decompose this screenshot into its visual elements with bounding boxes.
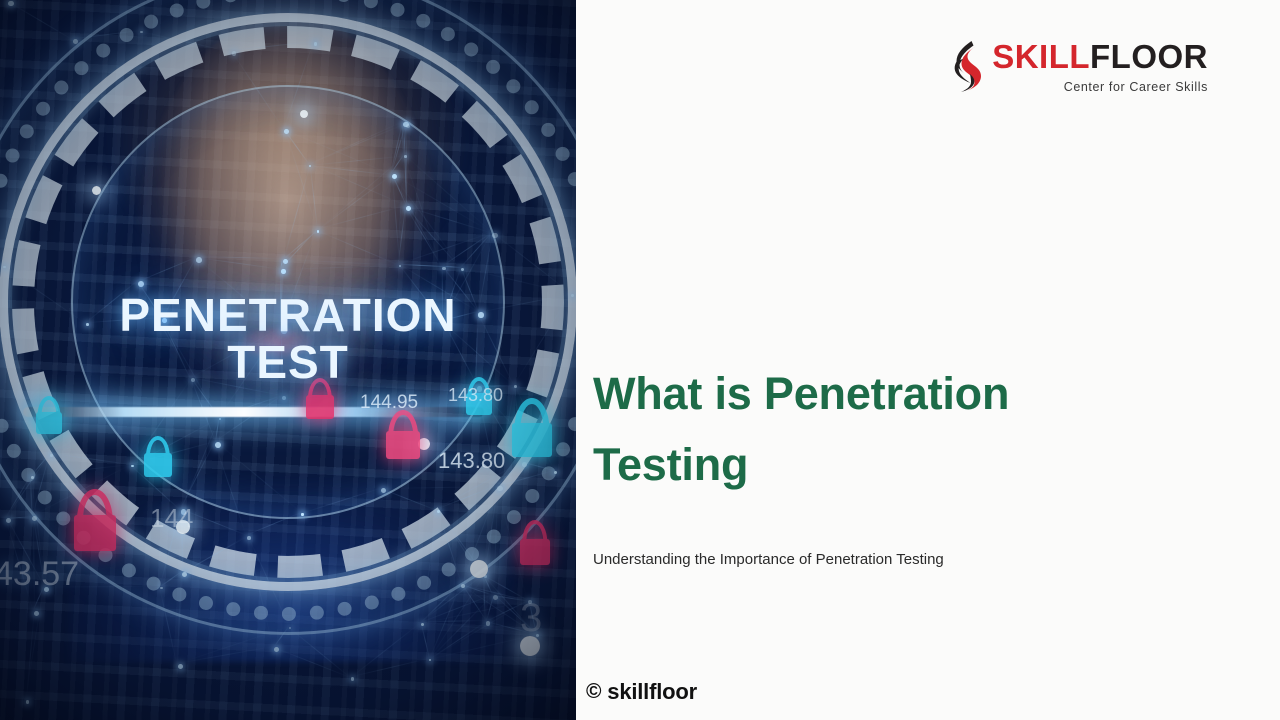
logo-wordmark: SKILLFLOOR bbox=[992, 40, 1208, 73]
logo-text-block: SKILLFLOOR Center for Career Skills bbox=[992, 40, 1208, 94]
footer-branding: © skillfloor bbox=[586, 679, 697, 705]
footer-brand-name: skillfloor bbox=[607, 679, 697, 705]
logo-word-skill: SKILL bbox=[992, 38, 1090, 75]
logo-word-floor: FLOOR bbox=[1090, 38, 1208, 75]
hero-vignette bbox=[0, 0, 576, 720]
page-title: What is Penetration Testing bbox=[593, 358, 1113, 500]
copyright-icon: © bbox=[586, 680, 601, 704]
hero-image: 144.95143.80143.8014443.573 PENETRATION … bbox=[0, 0, 576, 720]
logo-tagline: Center for Career Skills bbox=[992, 80, 1208, 94]
page-subtitle: Understanding the Importance of Penetrat… bbox=[593, 549, 1193, 570]
flame-icon bbox=[951, 40, 985, 92]
content-panel: SKILLFLOOR Center for Career Skills What… bbox=[576, 0, 1280, 720]
slide-root: 144.95143.80143.8014443.573 PENETRATION … bbox=[0, 0, 1280, 720]
skillfloor-logo: SKILLFLOOR Center for Career Skills bbox=[951, 40, 1208, 94]
